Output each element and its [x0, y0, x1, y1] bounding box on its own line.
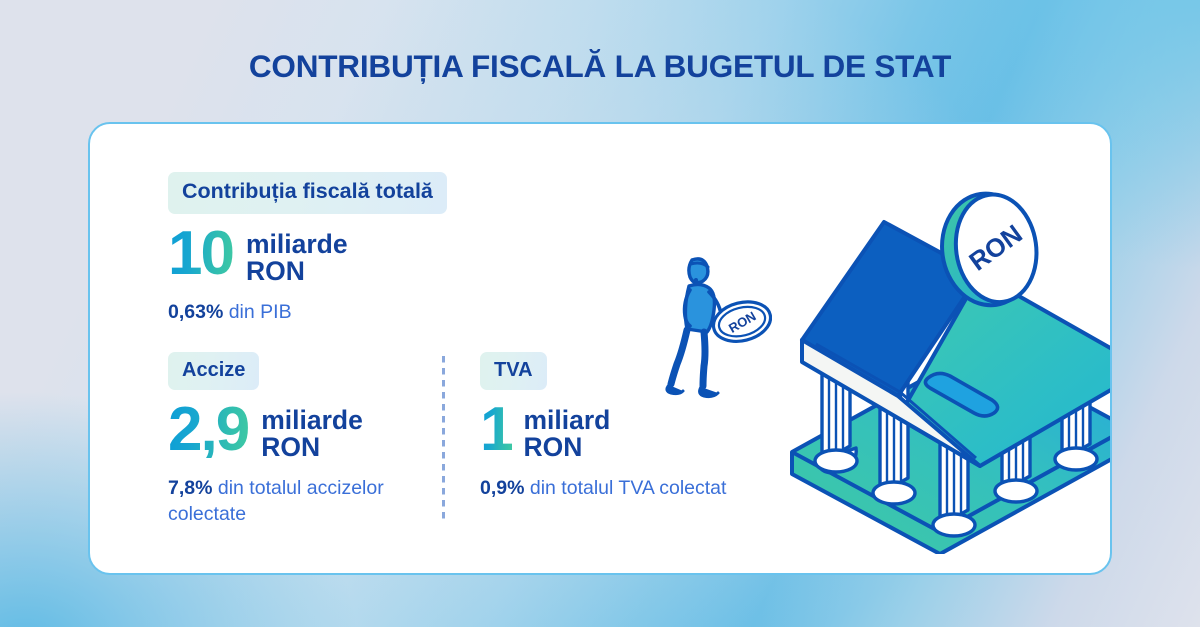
bank-building-illustration: RON [780, 182, 1112, 554]
tva-subtext-rest: din totalul TVA colectat [524, 477, 726, 499]
accize-unit-line2: RON [261, 434, 363, 461]
total-value-row: 10 miliarde RON [168, 227, 568, 285]
total-unit-line2: RON [246, 258, 348, 285]
total-subtext: 0,63% din PIB [168, 301, 568, 324]
bank-cornice [802, 340, 980, 466]
bank-roof-front [898, 274, 1112, 466]
total-value: 10 [168, 225, 233, 282]
accize-subtext-strong: 7,8% [168, 477, 212, 499]
tva-unit-line2: RON [523, 434, 610, 461]
tva-subtext-strong: 0,9% [480, 477, 524, 499]
accize-block: Accize 2,9 miliarde RON 7,8% din totalul… [168, 352, 448, 528]
content-card: Contribuția fiscală totală 10 miliarde R… [88, 122, 1112, 575]
accize-value: 2,9 [168, 401, 248, 458]
tva-unit-line1: miliard [523, 407, 610, 434]
bank-roof-left [802, 222, 980, 396]
accize-badge: Accize [168, 352, 259, 390]
tva-value-row: 1 miliard RON [480, 403, 740, 461]
total-unit: miliarde RON [246, 231, 348, 285]
bank-coin: RON [935, 187, 1044, 311]
tva-unit: miliard RON [523, 407, 610, 461]
accize-unit-line1: miliarde [261, 407, 363, 434]
total-subtext-strong: 0,63% [168, 301, 223, 323]
accize-value-row: 2,9 miliarde RON [168, 403, 448, 461]
total-contribution-block: Contribuția fiscală totală 10 miliarde R… [168, 172, 568, 324]
bank-coin-label: RON [963, 218, 1027, 276]
bank-coin-slot [925, 373, 997, 416]
total-subtext-rest: din PIB [223, 301, 291, 323]
infographic-canvas: CONTRIBUȚIA FISCALĂ LA BUGETUL DE STAT C… [0, 0, 1200, 627]
total-unit-line1: miliarde [246, 231, 348, 258]
tva-block: TVA 1 miliard RON 0,9% din totalul TVA c… [480, 352, 740, 502]
tva-subtext: 0,9% din totalul TVA colectat [480, 476, 740, 502]
tva-badge: TVA [480, 352, 547, 390]
bank-base [792, 348, 1112, 554]
tva-value: 1 [480, 401, 512, 458]
total-badge: Contribuția fiscală totală [168, 172, 447, 214]
accize-unit: miliarde RON [261, 407, 363, 461]
accize-subtext: 7,8% din totalul accizelor colectate [168, 476, 448, 527]
person-coin-label: RON [726, 308, 759, 335]
page-title: CONTRIBUȚIA FISCALĂ LA BUGETUL DE STAT [0, 48, 1200, 85]
